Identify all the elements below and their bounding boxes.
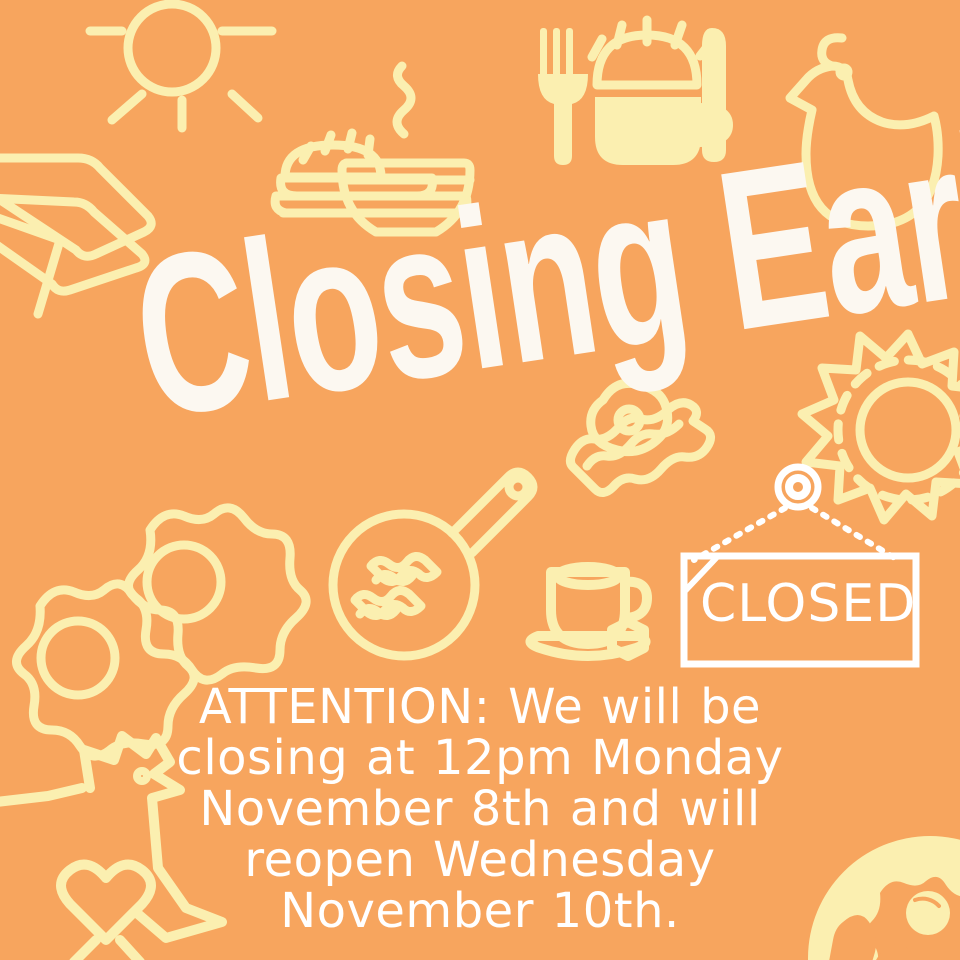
poster-canvas: Closing Early CLOSED ATTENTION: We will … bbox=[0, 0, 960, 960]
sign-hook-icon bbox=[778, 467, 818, 507]
sign-hanging-strings bbox=[694, 508, 898, 560]
announcement-text: ATTENTION: We will be closing at 12pm Mo… bbox=[135, 682, 825, 936]
closed-label: CLOSED bbox=[700, 578, 900, 630]
